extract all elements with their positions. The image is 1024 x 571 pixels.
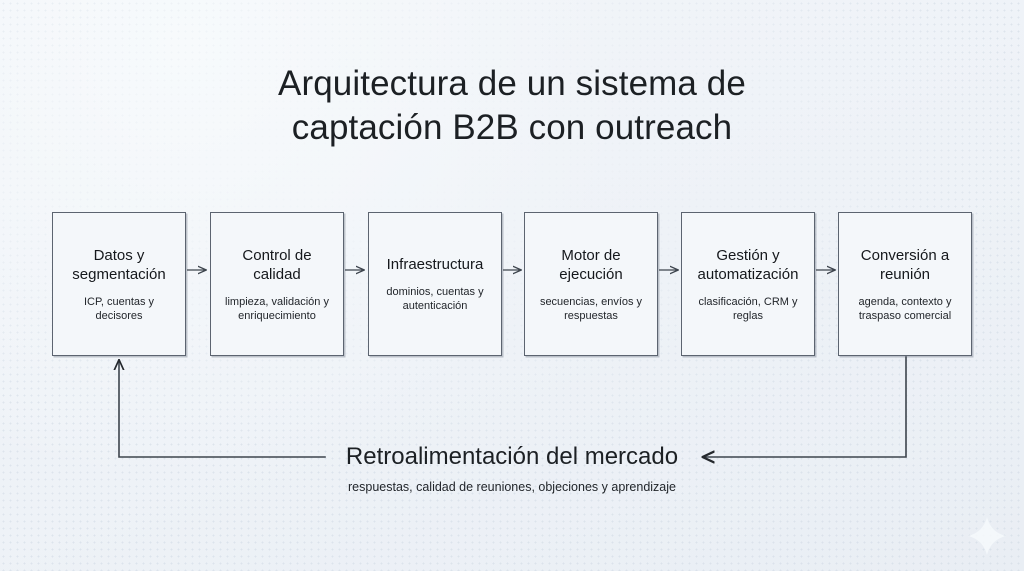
node-title: Motor de ejecución <box>532 246 650 284</box>
node-subtitle: ICP, cuentas y decisores <box>60 295 178 323</box>
process-node-motor-de-ejecucion[interactable]: Motor de ejecución secuencias, envíos y … <box>524 212 658 356</box>
node-title: Conversión a reunión <box>846 246 964 284</box>
node-title: Infraestructura <box>387 255 484 274</box>
feedback-loop-title: Retroalimentación del mercado <box>0 441 1024 472</box>
process-node-datos-y-segmentacion[interactable]: Datos y segmentación ICP, cuentas y deci… <box>52 212 186 356</box>
node-title: Gestión y automatización <box>689 246 807 284</box>
node-subtitle: secuencias, envíos y respuestas <box>532 295 650 323</box>
process-node-infraestructura[interactable]: Infraestructura dominios, cuentas y aute… <box>368 212 502 356</box>
node-title: Datos y segmentación <box>60 246 178 284</box>
node-subtitle: dominios, cuentas y autenticación <box>376 285 494 313</box>
process-node-conversion-a-reunion[interactable]: Conversión a reunión agenda, contexto y … <box>838 212 972 356</box>
node-subtitle: limpieza, validación y enriquecimiento <box>218 295 336 323</box>
process-node-control-de-calidad[interactable]: Control de calidad limpieza, validación … <box>210 212 344 356</box>
slide-canvas: Arquitectura de un sistema de captación … <box>0 0 1024 571</box>
node-subtitle: agenda, contexto y traspaso comercial <box>846 295 964 323</box>
node-subtitle: clasificación, CRM y reglas <box>689 295 807 323</box>
process-node-gestion-y-automatizacion[interactable]: Gestión y automatización clasificación, … <box>681 212 815 356</box>
node-title: Control de calidad <box>218 246 336 284</box>
feedback-loop-subtitle: respuestas, calidad de reuniones, objeci… <box>0 479 1024 495</box>
